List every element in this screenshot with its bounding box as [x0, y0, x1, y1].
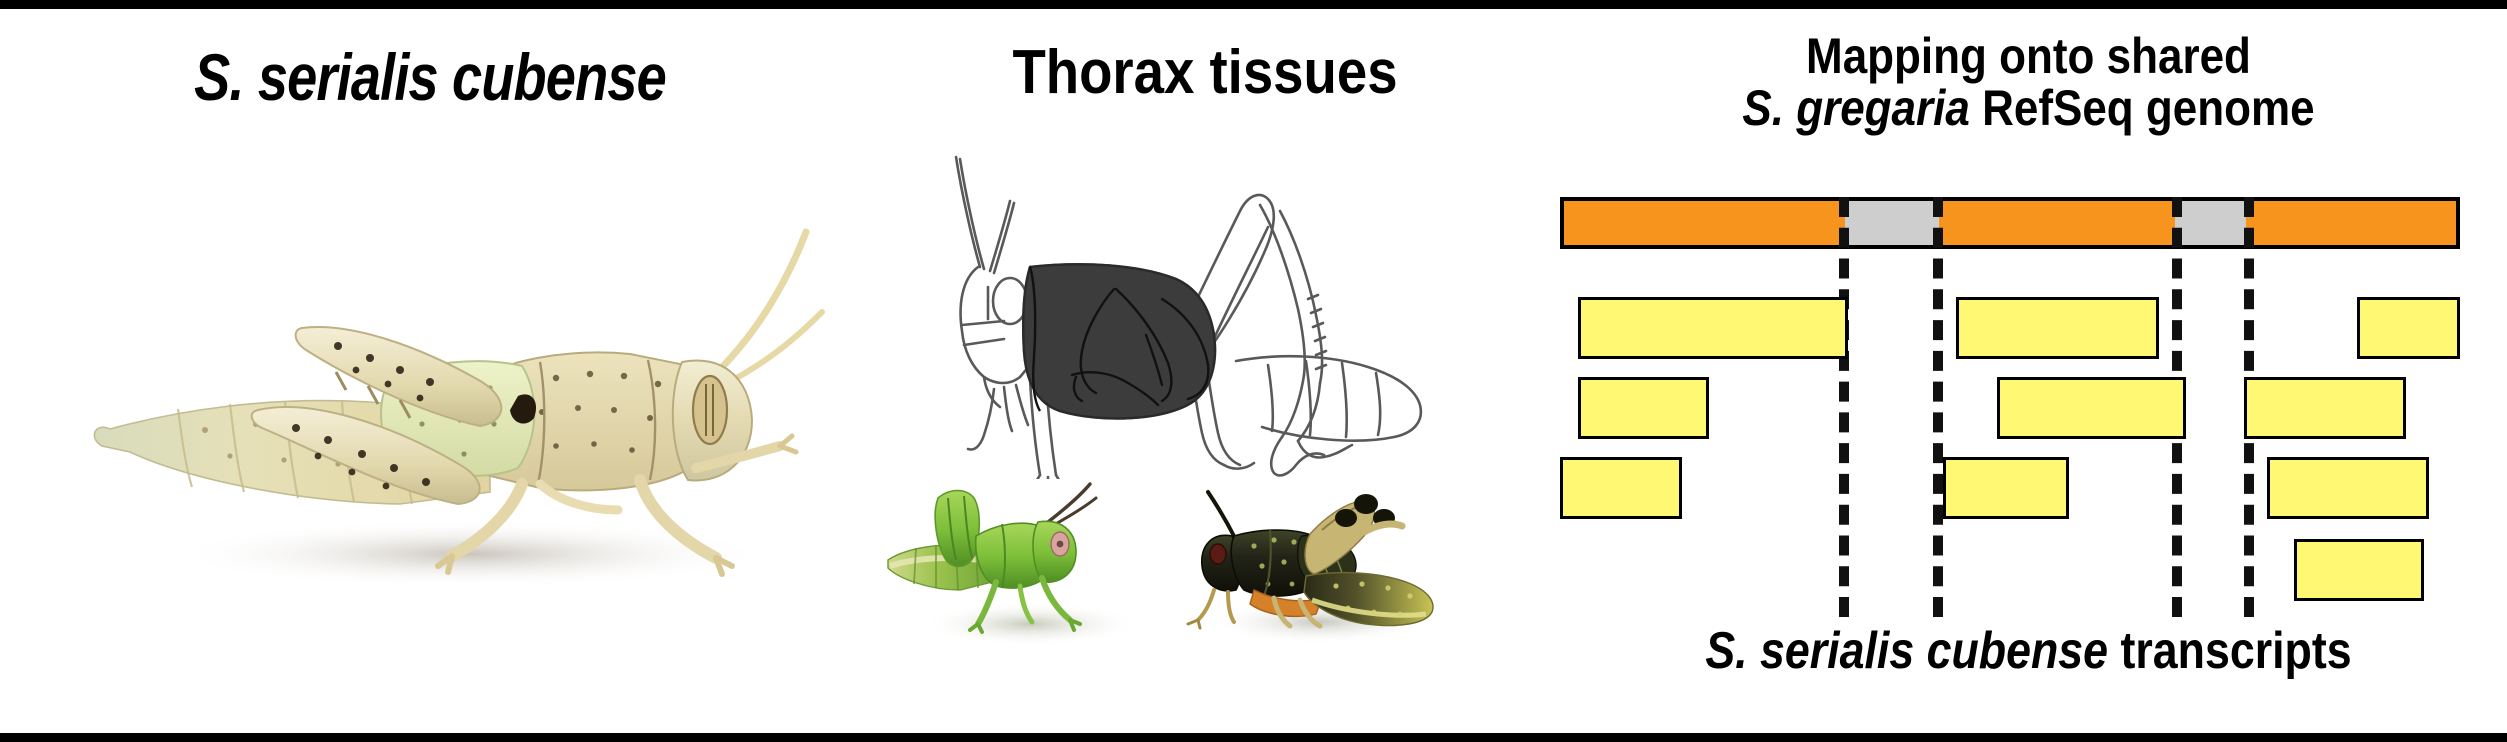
locust-photo-pale-nymph: [70, 184, 830, 614]
genome-segment-intron-1: [1845, 201, 1939, 245]
figure-canvas: S. serialis cubense: [0, 0, 2507, 742]
mapping-title-refseq: RefSeq genome: [1970, 80, 2315, 136]
transcript-box-r2-1: [1578, 377, 1709, 439]
transcript-box-r2-3: [2244, 377, 2406, 439]
genome-boundary-boundary-2: [1933, 197, 1943, 617]
thorax-title: Thorax tissues: [901, 37, 1508, 108]
transcript-box-r1-3: [2357, 297, 2461, 359]
genome-track: [1560, 197, 2460, 249]
transcript-box-r3-2: [1943, 457, 2069, 519]
mapping-title-species: S. gregaria: [1742, 80, 1969, 136]
panel-thorax: Thorax tissues: [860, 9, 1550, 733]
mapping-caption: S. serialis cubense transcripts: [1617, 621, 2440, 681]
caption-transcripts: transcripts: [2108, 622, 2352, 680]
grasshopper-line-drawing-shaded-thorax: [900, 139, 1520, 479]
transcript-box-r3-3: [2267, 457, 2429, 519]
green-solitarious-nymph-photo: [880, 474, 1180, 664]
panel-mapping: Mapping onto shared S. gregaria RefSeq g…: [1550, 9, 2507, 733]
transcript-track: [1560, 249, 2460, 629]
black-yellow-gregarious-nymph-photo: [1170, 474, 1470, 664]
caption-species: S. serialis cubense: [1705, 622, 2108, 680]
transcript-box-r3-1: [1560, 457, 1682, 519]
transcript-box-r1-2: [1956, 297, 2159, 359]
transcript-box-r2-2: [1997, 377, 2186, 439]
mapping-title-line-2: S. gregaria RefSeq genome: [1607, 79, 2449, 137]
species-title: S. serialis cubense: [77, 39, 782, 115]
genome-segment-intron-2: [2175, 201, 2246, 245]
transcript-box-r1-1: [1578, 297, 1848, 359]
genome-boundary-boundary-1: [1839, 197, 1849, 617]
transcript-box-r4-1: [2294, 539, 2425, 601]
mapping-title-line-1: Mapping onto shared: [1607, 27, 2449, 85]
panel-species: S. serialis cubense: [0, 9, 860, 733]
